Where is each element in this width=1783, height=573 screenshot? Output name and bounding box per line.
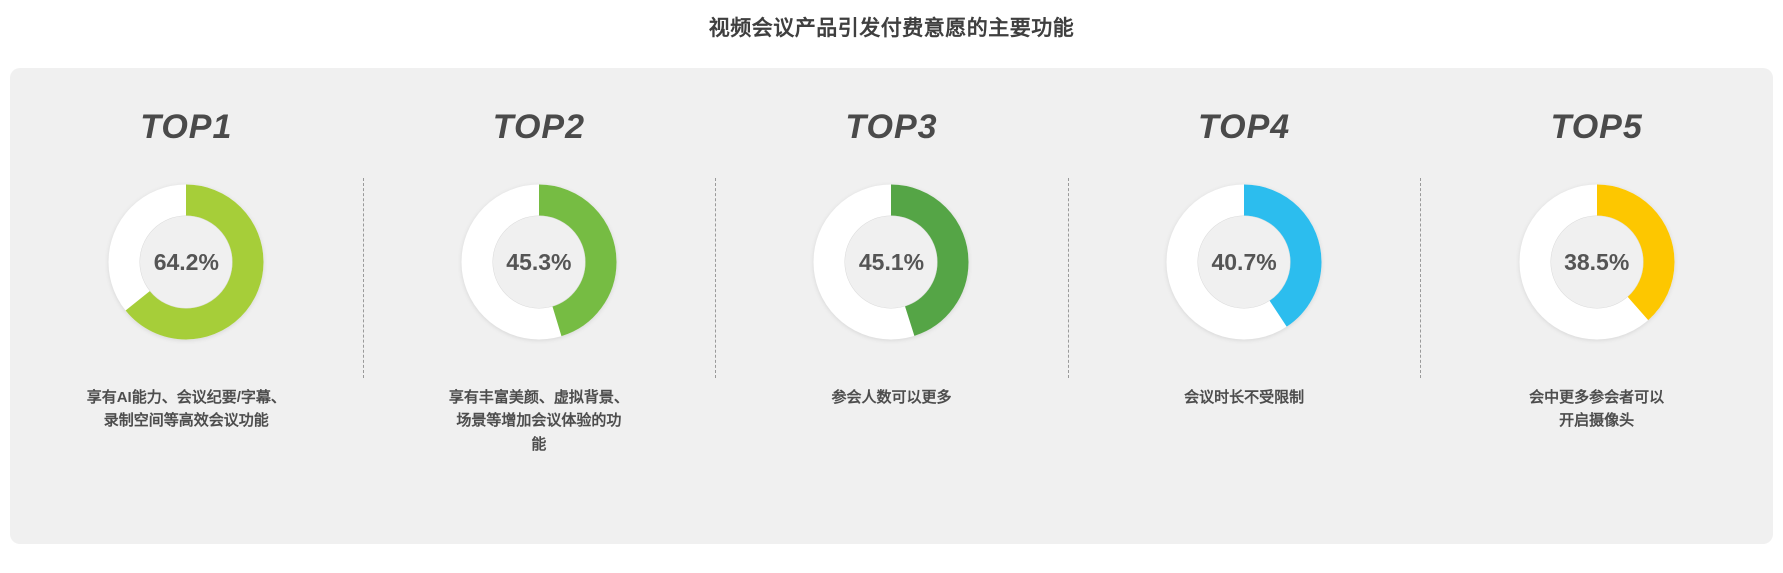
donut-chart: 64.2% (106, 182, 266, 342)
rank-label: TOP5 (1551, 110, 1643, 144)
rank-label: TOP1 (140, 110, 232, 144)
category-label: 会中更多参会者可以 开启摄像头 (1472, 386, 1722, 433)
donut-svg (106, 182, 266, 342)
donut-chart: 40.7% (1164, 182, 1324, 342)
donut-chart: 38.5% (1517, 182, 1677, 342)
donut-svg (811, 182, 971, 342)
page-title: 视频会议产品引发付费意愿的主要功能 (0, 12, 1783, 42)
donut-svg (1517, 182, 1677, 342)
donut-chart: 45.3% (459, 182, 619, 342)
rank-label: TOP3 (845, 110, 937, 144)
donut-chart: 45.1% (811, 182, 971, 342)
chart-page: 视频会议产品引发付费意愿的主要功能 TOP1 64.2% 享有AI能力、会议纪要… (0, 0, 1783, 573)
rank-label: TOP2 (493, 110, 585, 144)
donut-svg (459, 182, 619, 342)
category-label: 参会人数可以更多 (766, 386, 1016, 409)
rank-label: TOP4 (1198, 110, 1290, 144)
donut-svg (1164, 182, 1324, 342)
donut-panel: TOP1 64.2% 享有AI能力、会议纪要/字幕、 录制空间等高效会议功能 T… (10, 68, 1773, 544)
category-label: 享有丰富美颜、虚拟背景、 场景等增加会议体验的功 能 (414, 386, 664, 456)
donut-card-3: TOP3 45.1% 参会人数可以更多 (715, 68, 1068, 544)
category-label: 享有AI能力、会议纪要/字幕、 录制空间等高效会议功能 (61, 386, 311, 433)
donut-card-5: TOP5 38.5% 会中更多参会者可以 开启摄像头 (1420, 68, 1773, 544)
category-label: 会议时长不受限制 (1119, 386, 1369, 409)
donut-card-2: TOP2 45.3% 享有丰富美颜、虚拟背景、 场景等增加会议体验的功 能 (363, 68, 716, 544)
donut-card-4: TOP4 40.7% 会议时长不受限制 (1068, 68, 1421, 544)
donut-card-1: TOP1 64.2% 享有AI能力、会议纪要/字幕、 录制空间等高效会议功能 (10, 68, 363, 544)
